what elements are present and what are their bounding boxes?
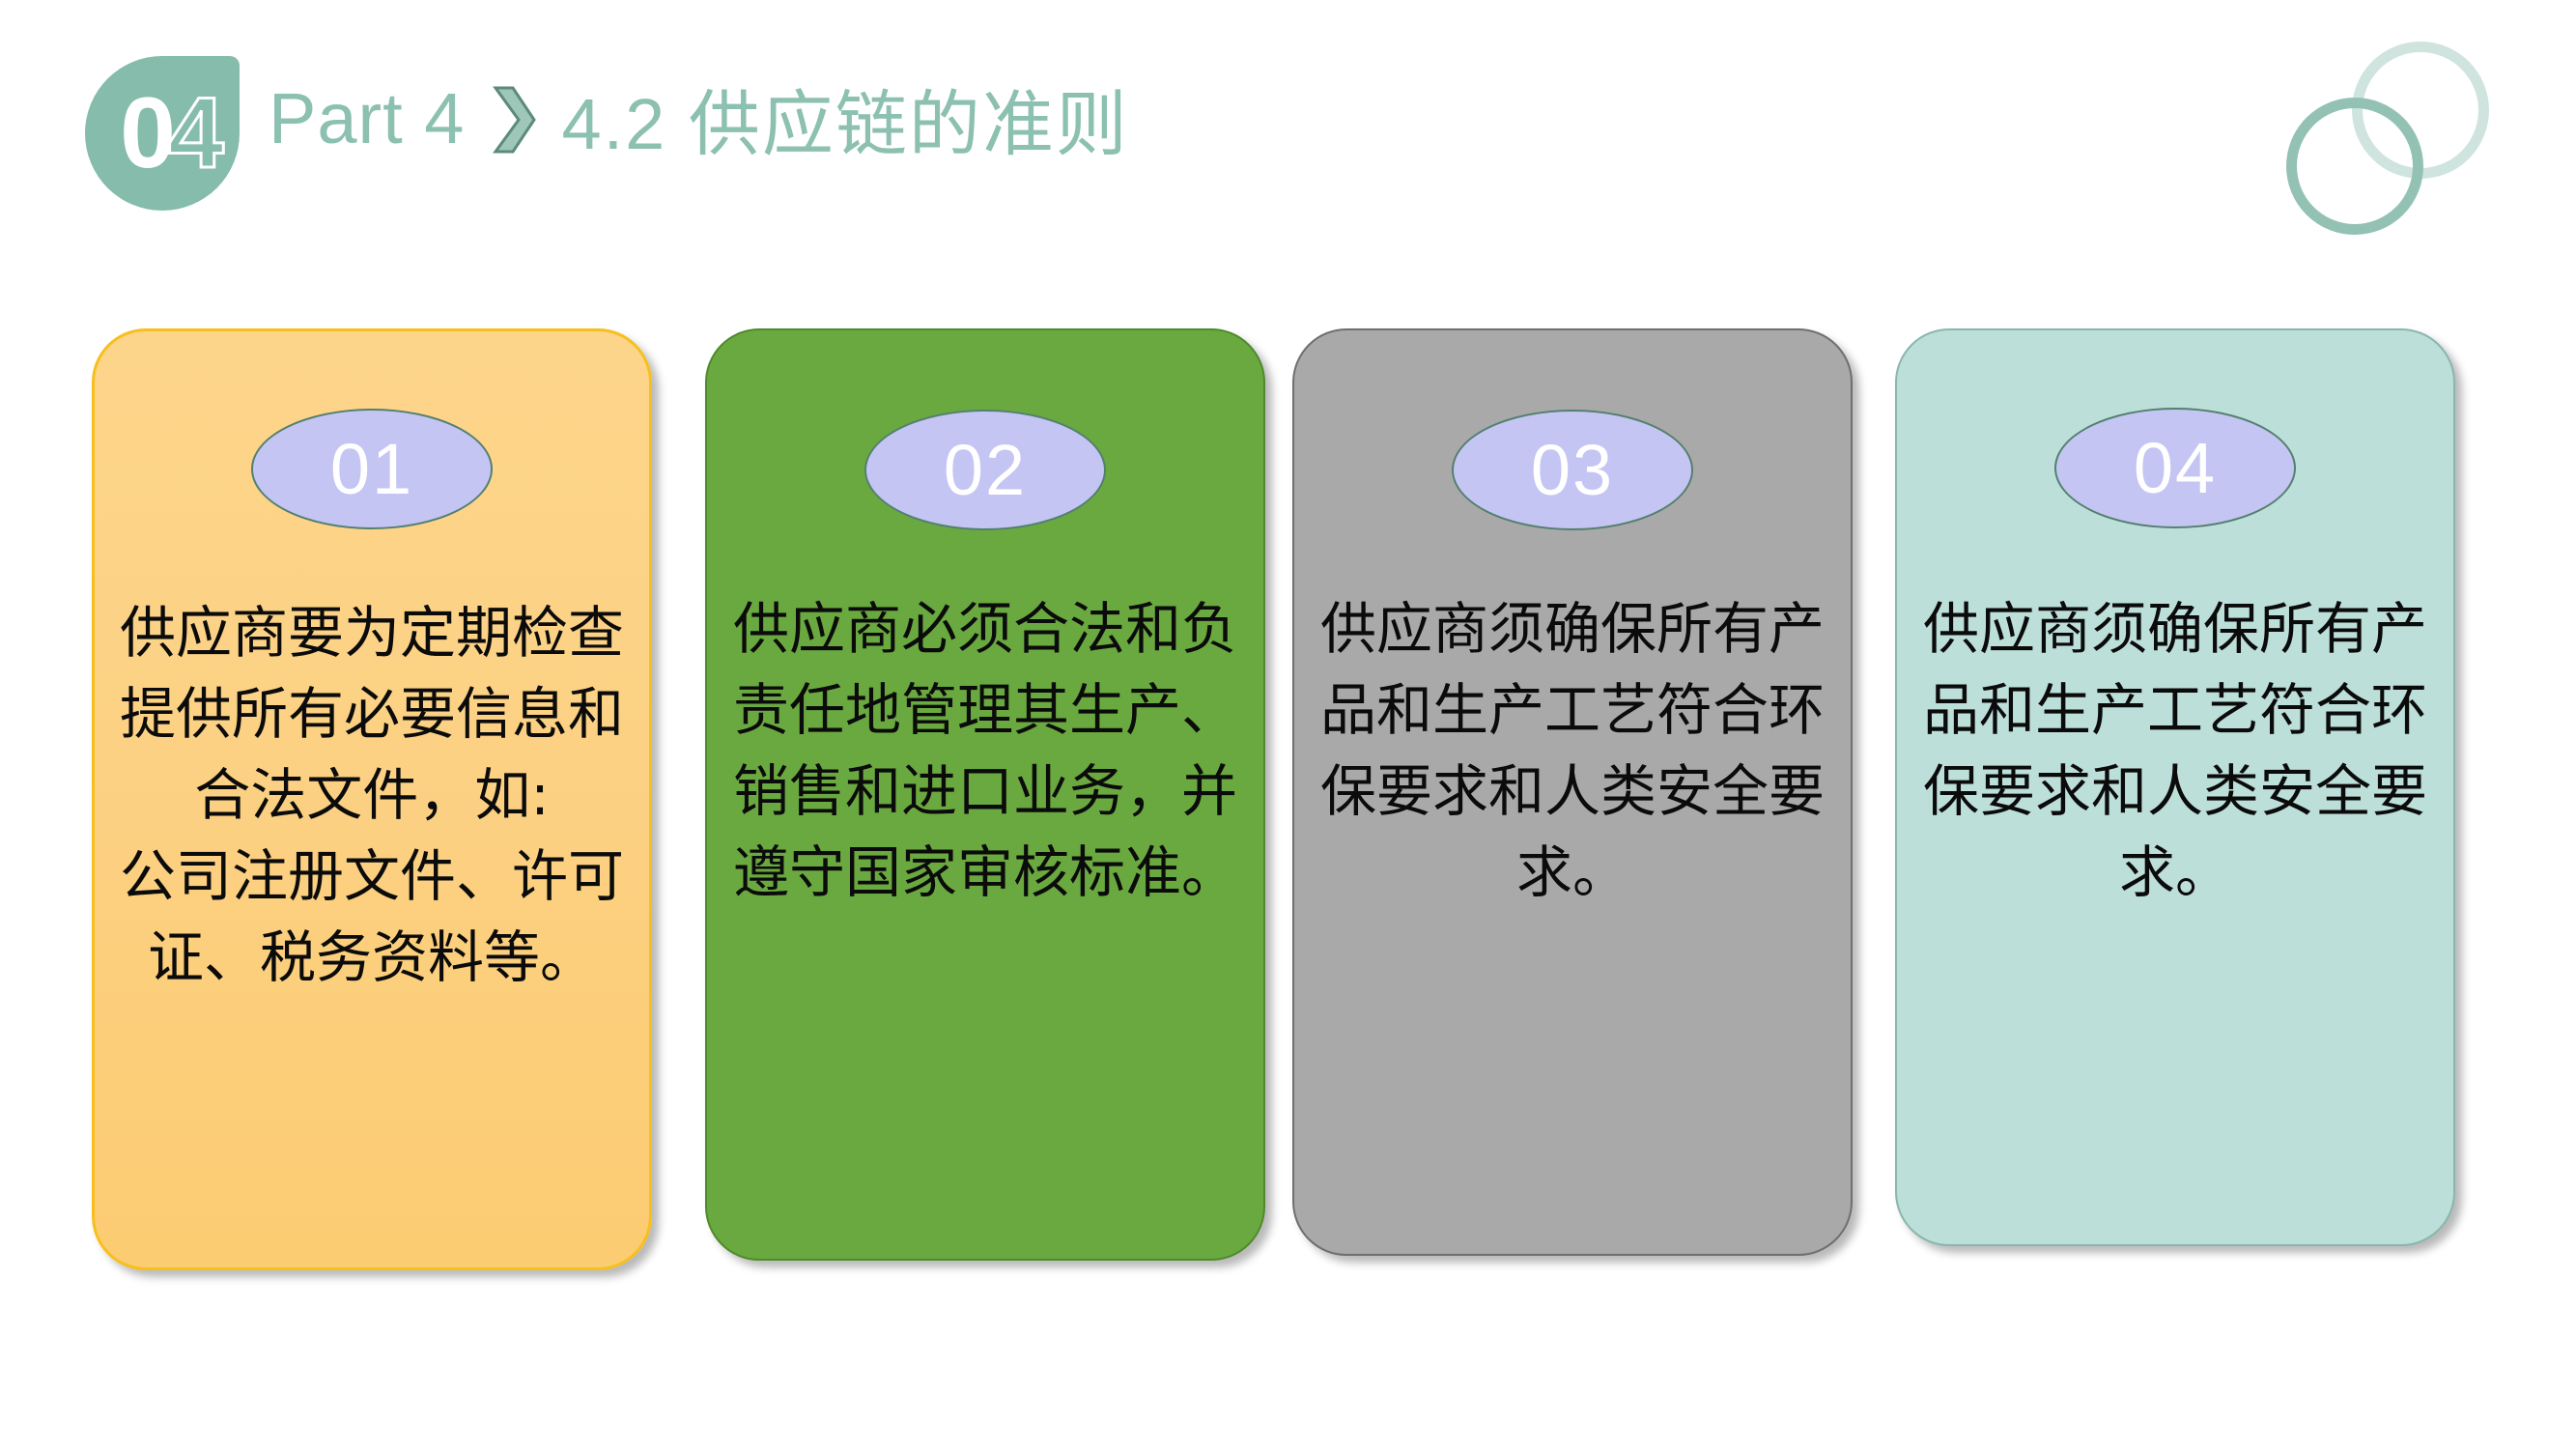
- breadcrumb-part-label: Part 4: [269, 77, 465, 159]
- section-number-back: 4: [168, 81, 261, 185]
- card-body-text: 供应商须确保所有产品和生产工艺符合环保要求和人类安全要求。: [1914, 588, 2436, 913]
- section-number-badge: 0 4: [85, 56, 240, 211]
- content-card-02[interactable]: 02 供应商必须合法和负责任地管理其生产、销售和进口业务，并遵守国家审核标准。: [705, 328, 1265, 1261]
- content-card-04[interactable]: 04 供应商须确保所有产品和生产工艺符合环保要求和人类安全要求。: [1895, 328, 2455, 1246]
- card-number-label: 04: [2134, 433, 2217, 504]
- card-number-badge-02: 02: [864, 410, 1106, 530]
- card-body-text: 供应商要为定期检查提供所有必要信息和合法文件，如: 公司注册文件、许可证、税务资…: [111, 592, 633, 998]
- breadcrumb: Part 4 4.2 供应链的准则: [269, 60, 1129, 176]
- card-number-badge-01: 01: [251, 409, 493, 529]
- slide-header: 0 4 Part 4 4.2 供应链的准则: [0, 0, 2576, 251]
- card-number-label: 01: [330, 434, 413, 505]
- content-card-01[interactable]: 01 供应商要为定期检查提供所有必要信息和合法文件，如: 公司注册文件、许可证、…: [92, 328, 652, 1270]
- card-number-badge-03: 03: [1452, 410, 1693, 530]
- card-number-badge-04: 04: [2054, 408, 2296, 528]
- chevron-right-icon: [490, 84, 536, 156]
- card-row: 01 供应商要为定期检查提供所有必要信息和合法文件，如: 公司注册文件、许可证、…: [0, 328, 2576, 1304]
- card-body-text: 供应商须确保所有产品和生产工艺符合环保要求和人类安全要求。: [1312, 588, 1833, 913]
- card-number-label: 03: [1531, 435, 1614, 506]
- card-body-text: 供应商必须合法和负责任地管理其生产、销售和进口业务，并遵守国家审核标准。: [724, 588, 1246, 913]
- decorative-rings: [2286, 34, 2489, 217]
- circle-outline-dark-icon: [2286, 98, 2423, 235]
- card-number-label: 02: [944, 435, 1027, 506]
- breadcrumb-title: 4.2 供应链的准则: [561, 67, 1128, 170]
- content-card-03[interactable]: 03 供应商须确保所有产品和生产工艺符合环保要求和人类安全要求。: [1292, 328, 1853, 1256]
